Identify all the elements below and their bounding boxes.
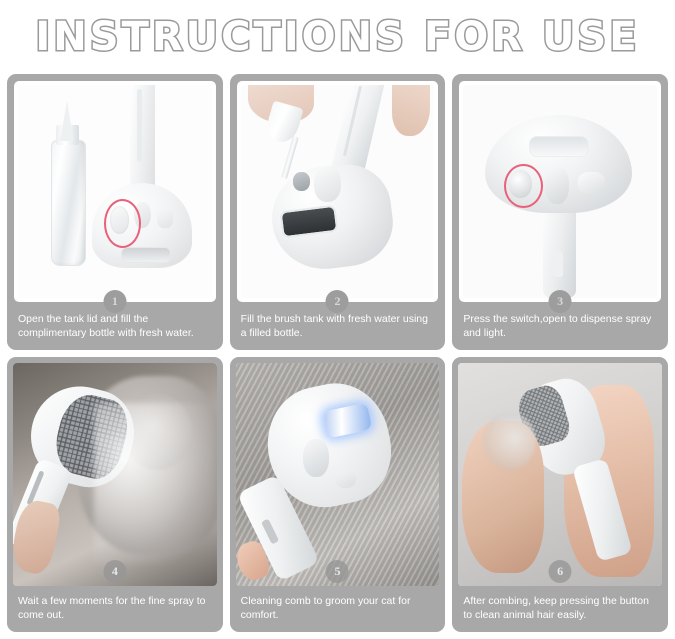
step-photo-frame-5: 5: [236, 363, 440, 587]
brush-button: [578, 172, 605, 193]
brush-handle-slot: [137, 89, 142, 161]
step-photo-frame-4: 4: [13, 363, 217, 587]
brush-button: [157, 208, 172, 227]
highlight-ring-icon: [104, 199, 141, 248]
step-caption-4: Wait a few moments for the fine spray to…: [7, 586, 223, 632]
step-badge-5: 5: [326, 560, 349, 583]
step-badge-6: 6: [549, 560, 572, 583]
tank-cap: [314, 166, 341, 202]
refill-bottle-tip: [60, 101, 74, 141]
brush-knob: [303, 439, 329, 477]
step-card-5[interactable]: 5 Cleaning comb to groom your cat for co…: [230, 357, 446, 633]
water-level-window: [121, 247, 171, 263]
step-photo-frame-2: 2: [237, 81, 439, 302]
brush-knob: [545, 166, 569, 204]
refill-bottle: [51, 140, 86, 265]
highlight-ring-icon: [504, 164, 543, 208]
step-badge-2: 2: [326, 290, 349, 313]
collected-animal-hair: [483, 412, 536, 470]
step-card-1[interactable]: 1 Open the tank lid and fill the complim…: [7, 74, 223, 350]
water-mist-spray: [94, 403, 212, 564]
step-card-4[interactable]: 4 Wait a few moments for the fine spray …: [7, 357, 223, 633]
step-illustration-5: [236, 363, 440, 587]
step-badge-4: 4: [103, 560, 126, 583]
step-card-3[interactable]: 3 Press the switch,open to dispense spra…: [452, 74, 668, 350]
step-badge-3: 3: [549, 290, 572, 313]
step-card-2[interactable]: 2 Fill the brush tank with fresh water u…: [230, 74, 446, 350]
step-illustration-4: [13, 363, 217, 587]
steps-grid: 1 Open the tank lid and fill the complim…: [0, 74, 675, 639]
page-title: INSTRUCTIONS FOR USE: [35, 17, 639, 57]
step-photo-frame-3: 3: [459, 81, 661, 302]
step-illustration-6: [458, 363, 662, 587]
page-header: INSTRUCTIONS FOR USE: [0, 0, 675, 74]
water-level-window: [529, 136, 589, 157]
step-caption-6: After combing, keep pressing the button …: [452, 586, 668, 632]
step-caption-5: Cleaning comb to groom your cat for comf…: [230, 586, 446, 632]
step-illustration-2: [241, 85, 435, 298]
brush-neck: [543, 200, 576, 298]
brush-button: [335, 470, 355, 488]
step-illustration-1: [18, 85, 212, 298]
step-photo-frame-1: 1: [14, 81, 216, 302]
brush-handle-slot: [553, 251, 563, 277]
step-badge-1: 1: [103, 290, 126, 313]
step-card-6[interactable]: 6 After combing, keep pressing the butto…: [452, 357, 668, 633]
step-illustration-3: [463, 85, 657, 298]
step-photo-frame-6: 6: [458, 363, 662, 587]
